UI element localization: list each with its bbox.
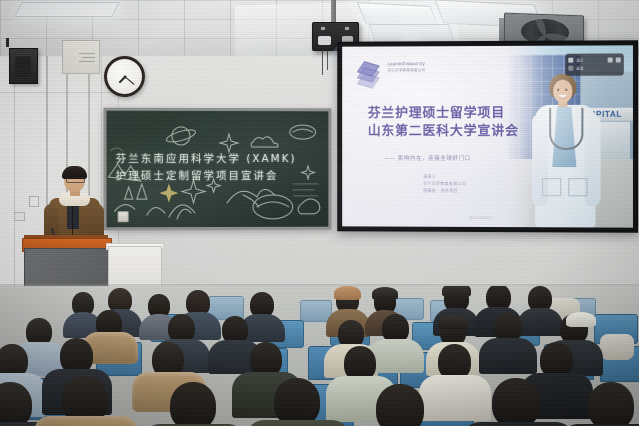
projection-screen: FINSPITAL <box>337 40 638 232</box>
close-icon[interactable] <box>616 57 621 62</box>
beige-handbag[interactable] <box>600 334 634 360</box>
power-outlet-icon[interactable] <box>14 212 25 221</box>
slide-title-line-2: 山东第二医科大学宣讲会 <box>368 123 519 141</box>
blackboard: 芬兰东南应用科学大学 (XAMK) 护理硕士定制留学项目宣讲会 <box>104 108 332 231</box>
slide-title-block: 芬兰护理硕士留学项目 山东第二医科大学宣讲会 —— 影响内在，连接全球好门口 <box>368 105 519 162</box>
logo-company-cn: 芬兰乐学教育有限公司 <box>388 68 426 73</box>
settings-icon[interactable] <box>608 57 613 62</box>
ceiling-light-panel <box>369 24 455 43</box>
chalk-eraser[interactable] <box>118 211 129 222</box>
presentation-slide: FINSPITAL <box>342 45 633 227</box>
glasses-icon <box>66 177 85 183</box>
ceiling-light-panel <box>14 2 119 17</box>
presentation-toolbar-overlay[interactable]: 演示 画笔 <box>565 53 624 75</box>
light-switch-icon[interactable] <box>29 196 39 207</box>
projector-indicator <box>321 27 325 30</box>
wall-seam <box>0 92 118 93</box>
blackboard-surface: 芬兰东南应用科学大学 (XAMK) 护理硕士定制留学项目宣讲会 <box>107 111 329 228</box>
beige-cap <box>334 286 361 300</box>
speaker-bracket <box>6 38 9 47</box>
credit-line-2: 芬兰乐学教育有限公司 <box>423 180 466 187</box>
wall-clock <box>104 56 145 97</box>
slide-title-line-1: 芬兰护理硕士留学项目 <box>368 105 519 124</box>
wall-notice-panel <box>62 40 100 74</box>
wall-speaker-icon <box>9 48 38 84</box>
play-icon[interactable] <box>568 57 573 62</box>
lecture-hall-photo: 芬兰东南应用科学大学 (XAMK) 护理硕士定制留学项目宣讲会 FINSPITA… <box>0 0 639 426</box>
black-cap <box>442 286 471 297</box>
projector-lens <box>318 36 331 45</box>
slide-date: 2024/12/05 <box>469 216 491 220</box>
logo-company-en: LearninFinland Oy <box>388 61 426 66</box>
projector-indicator <box>345 27 349 30</box>
blackboard-line-2: 护理硕士定制留学项目宣讲会 <box>116 168 279 183</box>
toolbar-label-2: 画笔 <box>576 65 583 70</box>
credit-line-3: 国事处 · 合作项目 <box>423 187 466 194</box>
pen-icon[interactable] <box>568 65 573 70</box>
white-cap <box>566 312 596 327</box>
toolbar-label-1: 演示 <box>576 57 583 62</box>
slide-logo-icon <box>356 60 382 86</box>
slide-logo-text: LearninFinland Oy 芬兰乐学教育有限公司 <box>388 61 426 73</box>
black-beanie <box>372 287 398 300</box>
credit-line-1: 演讲人 <box>423 173 466 180</box>
projector-cable <box>322 49 323 75</box>
slide-credit-block: 演讲人 芬兰乐学教育有限公司 国事处 · 合作项目 <box>423 173 466 195</box>
blackboard-line-1: 芬兰东南应用科学大学 (XAMK) <box>116 151 297 166</box>
slide-subtitle: —— 影响内在，连接全球好门口 <box>384 154 519 162</box>
audience-seating-area <box>0 286 639 426</box>
black-beanie <box>438 315 468 329</box>
